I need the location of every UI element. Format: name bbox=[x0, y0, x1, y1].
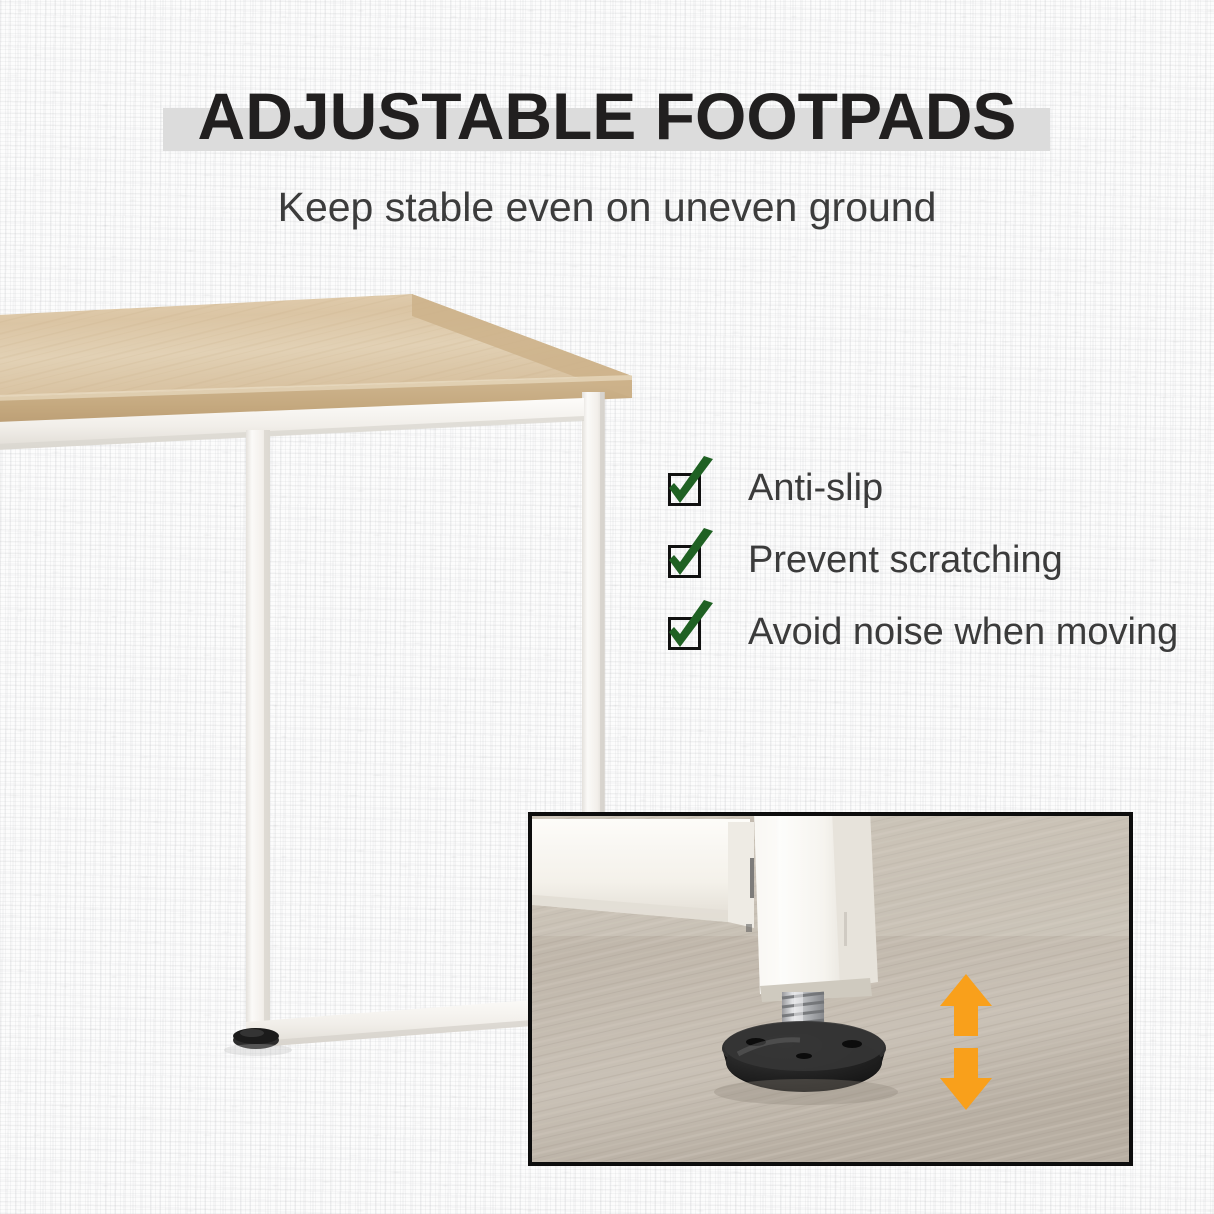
table-leg bbox=[754, 816, 878, 1002]
check-glyph bbox=[662, 533, 716, 587]
feature-item: Prevent scratching bbox=[662, 524, 1182, 596]
footpad-shadow bbox=[714, 1079, 898, 1105]
feature-label: Anti-slip bbox=[716, 465, 883, 511]
check-glyph bbox=[662, 461, 716, 515]
product-feature-poster: ADJUSTABLE FOOTPADS Keep stable even on … bbox=[0, 0, 1214, 1214]
feature-item: Anti-slip bbox=[662, 452, 1182, 524]
feature-label: Prevent scratching bbox=[716, 537, 1063, 583]
desk-foot-shadow bbox=[224, 1044, 292, 1056]
page-title: ADJUSTABLE FOOTPADS bbox=[0, 76, 1214, 156]
footpad-closeup-panel bbox=[528, 812, 1133, 1166]
checkbox-checked-icon bbox=[662, 605, 716, 659]
page-subtitle: Keep stable even on uneven ground bbox=[0, 181, 1214, 233]
footpad-closeup-photo bbox=[532, 816, 1129, 1162]
checkbox-checked-icon bbox=[662, 533, 716, 587]
check-glyph bbox=[662, 605, 716, 659]
feature-item: Avoid noise when moving bbox=[662, 596, 1182, 668]
feature-list: Anti-slip Prevent scratching Avoid noise… bbox=[662, 452, 1182, 668]
desk-leg-front bbox=[246, 430, 270, 1042]
feature-label: Avoid noise when moving bbox=[716, 609, 1178, 655]
checkbox-checked-icon bbox=[662, 461, 716, 515]
